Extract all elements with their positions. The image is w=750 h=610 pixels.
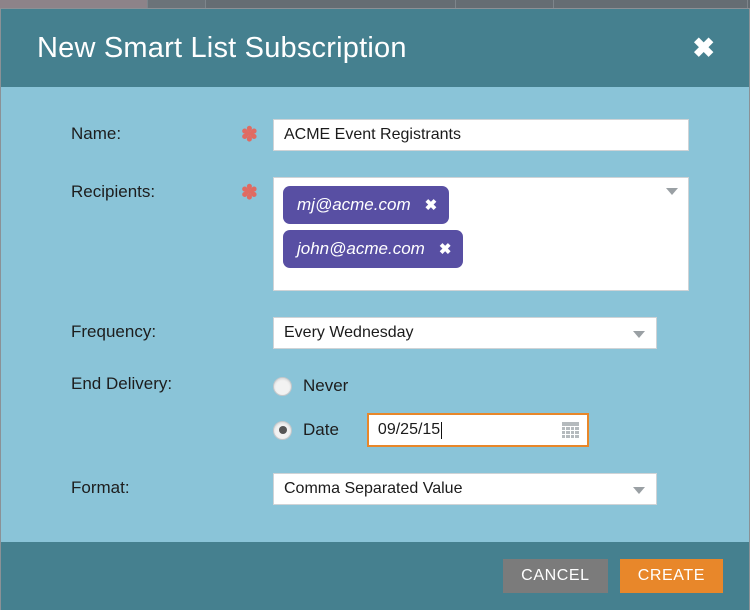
recipient-chip[interactable]: mj@acme.com ✖ <box>283 186 449 224</box>
dialog-header: New Smart List Subscription ✖ <box>1 9 749 87</box>
remove-recipient-icon[interactable]: ✖ <box>425 198 438 213</box>
chevron-down-icon[interactable] <box>633 487 645 494</box>
end-delivery-label: End Delivery: <box>71 369 241 394</box>
frequency-label: Frequency: <box>71 317 241 342</box>
text-cursor <box>441 422 442 439</box>
radio-never[interactable] <box>273 377 292 396</box>
recipients-label: Recipients: <box>71 177 241 202</box>
end-delivery-required-marker: * <box>241 369 273 395</box>
format-selected-value: Comma Separated Value <box>284 480 462 498</box>
calendar-icon[interactable] <box>562 422 579 438</box>
close-icon[interactable]: ✖ <box>684 31 723 66</box>
chevron-down-icon[interactable] <box>666 188 678 195</box>
recipient-chip[interactable]: john@acme.com ✖ <box>283 230 463 268</box>
field-row-frequency: Frequency: * Every Wednesday <box>1 317 749 349</box>
recipient-chip-email: mj@acme.com <box>297 195 411 215</box>
frequency-required-marker: * <box>241 317 273 343</box>
new-subscription-dialog: New Smart List Subscription ✖ Name: ✽ AC… <box>0 8 750 610</box>
remove-recipient-icon[interactable]: ✖ <box>439 242 452 257</box>
radio-date[interactable] <box>273 421 292 440</box>
field-row-format: Format: * Comma Separated Value <box>1 473 749 505</box>
field-row-name: Name: ✽ ACME Event Registrants <box>1 119 749 151</box>
field-row-recipients: Recipients: ✽ mj@acme.com ✖ john@acme.co… <box>1 177 749 291</box>
format-label: Format: <box>71 473 241 498</box>
chevron-down-icon[interactable] <box>633 331 645 338</box>
frequency-selected-value: Every Wednesday <box>284 324 414 342</box>
dialog-title: New Smart List Subscription <box>37 34 684 63</box>
name-required-marker: ✽ <box>241 119 273 145</box>
screen: New Smart List Subscription ✖ Name: ✽ AC… <box>0 0 750 610</box>
recipient-chip-email: john@acme.com <box>297 239 425 259</box>
field-row-end-delivery: End Delivery: * Never Date 09/25/15 <box>1 369 749 447</box>
name-input[interactable]: ACME Event Registrants <box>273 119 689 151</box>
radio-date-label: Date <box>303 420 339 440</box>
radio-option-date: Date 09/25/15 <box>273 413 689 447</box>
end-date-value: 09/25/15 <box>378 421 440 439</box>
dialog-body: Name: ✽ ACME Event Registrants Recipient… <box>1 87 749 542</box>
name-label: Name: <box>71 119 241 144</box>
recipients-multiselect[interactable]: mj@acme.com ✖ john@acme.com ✖ <box>273 177 689 291</box>
format-select[interactable]: Comma Separated Value <box>273 473 657 505</box>
create-button[interactable]: CREATE <box>620 559 723 593</box>
format-required-marker: * <box>241 473 273 499</box>
recipients-required-marker: ✽ <box>241 177 273 203</box>
frequency-select[interactable]: Every Wednesday <box>273 317 657 349</box>
dialog-footer: CANCEL CREATE <box>1 542 749 610</box>
radio-option-never[interactable]: Never <box>273 369 689 403</box>
end-date-input[interactable]: 09/25/15 <box>367 413 589 447</box>
radio-never-label: Never <box>303 376 348 396</box>
cancel-button[interactable]: CANCEL <box>503 559 608 593</box>
